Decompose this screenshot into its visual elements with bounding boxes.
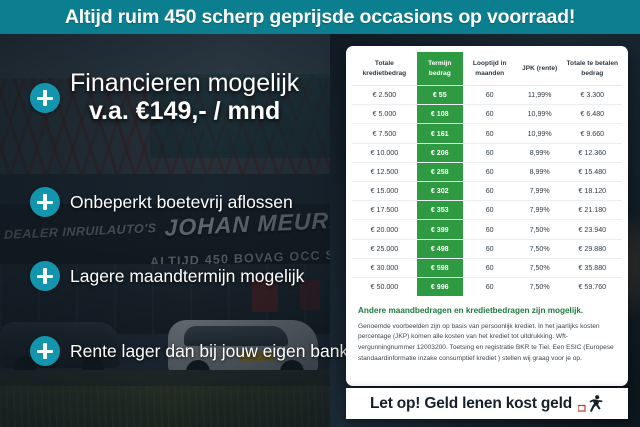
financing-headline-line1: Financieren mogelijk xyxy=(70,70,299,97)
table-header-duration: Looptijd in maanden xyxy=(463,52,517,86)
cell-monthly-amount: € 996 xyxy=(417,277,463,296)
cell-jkp: 11,99% xyxy=(517,86,563,105)
table-row: € 7.500€ 1616010,99%€ 9.660 xyxy=(352,124,622,143)
cell-total-payable: € 12.360 xyxy=(563,143,622,162)
rate-table-wrapper: Totale kredietbedrag Termijn bedrag Loop… xyxy=(346,46,628,300)
cell-credit-amount: € 50.000 xyxy=(352,277,417,296)
table-row: € 17.500€ 353607,99%€ 21.180 xyxy=(352,201,622,220)
cell-total-payable: € 21.180 xyxy=(563,201,622,220)
credit-warning-strip: Let op! Geld lenen kost geld xyxy=(346,388,628,419)
cell-monthly-amount: € 498 xyxy=(417,239,463,258)
top-banner-text: Altijd ruim 450 scherp geprijsde occasio… xyxy=(65,6,575,29)
highlight-item-lower-term: Lagere maandtermijn mogelijk xyxy=(30,261,304,291)
highlight-item-lower-rate: Rente lager dan bij jouw eigen bank xyxy=(30,336,348,366)
cell-total-payable: € 59.760 xyxy=(563,277,622,296)
afm-running-man-logo xyxy=(578,394,604,414)
cell-credit-amount: € 25.000 xyxy=(352,239,417,258)
table-header-credit-amount: Totale kredietbedrag xyxy=(352,52,417,86)
cell-credit-amount: € 30.000 xyxy=(352,258,417,277)
cell-monthly-amount: € 399 xyxy=(417,220,463,239)
cell-total-payable: € 9.660 xyxy=(563,124,622,143)
table-row: € 12.500€ 258608,99%€ 15.480 xyxy=(352,162,622,181)
cell-credit-amount: € 7.500 xyxy=(352,124,417,143)
cell-duration: 60 xyxy=(463,220,517,239)
cell-total-payable: € 15.480 xyxy=(563,162,622,181)
highlights-list: Financieren mogelijk v.a. €149,- / mnd O… xyxy=(0,34,348,427)
table-header-monthly-amount: Termijn bedrag xyxy=(417,52,463,86)
cell-credit-amount: € 10.000 xyxy=(352,143,417,162)
cell-monthly-amount: € 161 xyxy=(417,124,463,143)
cell-duration: 60 xyxy=(463,105,517,124)
table-row: € 25.000€ 498607,50%€ 29.880 xyxy=(352,239,622,258)
cell-total-payable: € 23.940 xyxy=(563,220,622,239)
cell-total-payable: € 35.880 xyxy=(563,258,622,277)
highlight-item-repayment: Onbeperkt boetevrij aflossen xyxy=(30,187,293,217)
plus-icon xyxy=(30,187,60,217)
cell-monthly-amount: € 206 xyxy=(417,143,463,162)
cell-total-payable: € 6.480 xyxy=(563,105,622,124)
table-row: € 50.000€ 996607,50%€ 59.760 xyxy=(352,277,622,296)
cell-total-payable: € 29.880 xyxy=(563,239,622,258)
table-header-jkp: JPK (rente) xyxy=(517,52,563,86)
cell-jkp: 7,50% xyxy=(517,239,563,258)
cell-jkp: 10,99% xyxy=(517,124,563,143)
cell-monthly-amount: € 353 xyxy=(417,201,463,220)
table-row: € 10.000€ 206608,99%€ 12.360 xyxy=(352,143,622,162)
cell-jkp: 7,50% xyxy=(517,220,563,239)
rate-card: Totale kredietbedrag Termijn bedrag Loop… xyxy=(346,46,628,386)
financing-headline: Financieren mogelijk v.a. €149,- / mnd xyxy=(70,70,299,127)
fineprint-body: Genoemde voorbeelden zijn op basis van p… xyxy=(358,322,616,365)
table-row: € 30.000€ 598607,50%€ 35.880 xyxy=(352,258,622,277)
plus-icon xyxy=(30,336,60,366)
table-header-total-payable: Totale te betalen bedrag xyxy=(563,52,622,86)
highlight-label: Lagere maandtermijn mogelijk xyxy=(70,266,304,287)
fineprint-title: Andere maandbedragen en kredietbedragen … xyxy=(358,306,616,317)
cell-jkp: 7,50% xyxy=(517,258,563,277)
cell-jkp: 7,50% xyxy=(517,277,563,296)
cell-jkp: 7,99% xyxy=(517,201,563,220)
table-row: € 2.500€ 556011,99%€ 3.300 xyxy=(352,86,622,105)
rate-table-body: € 2.500€ 556011,99%€ 3.300€ 5.000€ 10860… xyxy=(352,86,622,297)
highlight-item-financing: Financieren mogelijk v.a. €149,- / mnd xyxy=(30,70,299,127)
table-row: € 20.000€ 399607,50%€ 23.940 xyxy=(352,220,622,239)
cell-duration: 60 xyxy=(463,143,517,162)
cell-total-payable: € 18.120 xyxy=(563,182,622,201)
table-header-row: Totale kredietbedrag Termijn bedrag Loop… xyxy=(352,52,622,86)
cell-jkp: 7,99% xyxy=(517,182,563,201)
cell-duration: 60 xyxy=(463,239,517,258)
cell-monthly-amount: € 55 xyxy=(417,86,463,105)
cell-duration: 60 xyxy=(463,201,517,220)
cell-monthly-amount: € 108 xyxy=(417,105,463,124)
cell-credit-amount: € 17.500 xyxy=(352,201,417,220)
table-row: € 5.000€ 1086010,99%€ 6.480 xyxy=(352,105,622,124)
table-row: € 15.000€ 302607,99%€ 18.120 xyxy=(352,182,622,201)
top-banner-bar: Altijd ruim 450 scherp geprijsde occasio… xyxy=(0,0,640,34)
cell-jkp: 8,99% xyxy=(517,162,563,181)
cell-total-payable: € 3.300 xyxy=(563,86,622,105)
promo-banner: Altijd ruim 450 scherp geprijsde occasio… xyxy=(0,0,640,427)
cell-monthly-amount: € 302 xyxy=(417,182,463,201)
cell-duration: 60 xyxy=(463,182,517,201)
cell-monthly-amount: € 598 xyxy=(417,258,463,277)
cell-duration: 60 xyxy=(463,124,517,143)
cell-credit-amount: € 2.500 xyxy=(352,86,417,105)
credit-warning-text: Let op! Geld lenen kost geld xyxy=(370,395,572,413)
rate-table: Totale kredietbedrag Termijn bedrag Loop… xyxy=(352,52,622,296)
cell-monthly-amount: € 258 xyxy=(417,162,463,181)
fineprint-block: Andere maandbedragen en kredietbedragen … xyxy=(346,300,628,368)
cell-credit-amount: € 12.500 xyxy=(352,162,417,181)
plus-icon xyxy=(30,83,60,113)
cell-jkp: 8,99% xyxy=(517,143,563,162)
plus-icon xyxy=(30,261,60,291)
financing-headline-line2: v.a. €149,- / mnd xyxy=(70,97,299,127)
cell-duration: 60 xyxy=(463,162,517,181)
cell-duration: 60 xyxy=(463,277,517,296)
cell-jkp: 10,99% xyxy=(517,105,563,124)
cell-duration: 60 xyxy=(463,86,517,105)
cell-duration: 60 xyxy=(463,258,517,277)
highlight-label: Rente lager dan bij jouw eigen bank xyxy=(70,341,348,362)
cell-credit-amount: € 15.000 xyxy=(352,182,417,201)
highlight-label: Onbeperkt boetevrij aflossen xyxy=(70,192,293,213)
cell-credit-amount: € 5.000 xyxy=(352,105,417,124)
cell-credit-amount: € 20.000 xyxy=(352,220,417,239)
